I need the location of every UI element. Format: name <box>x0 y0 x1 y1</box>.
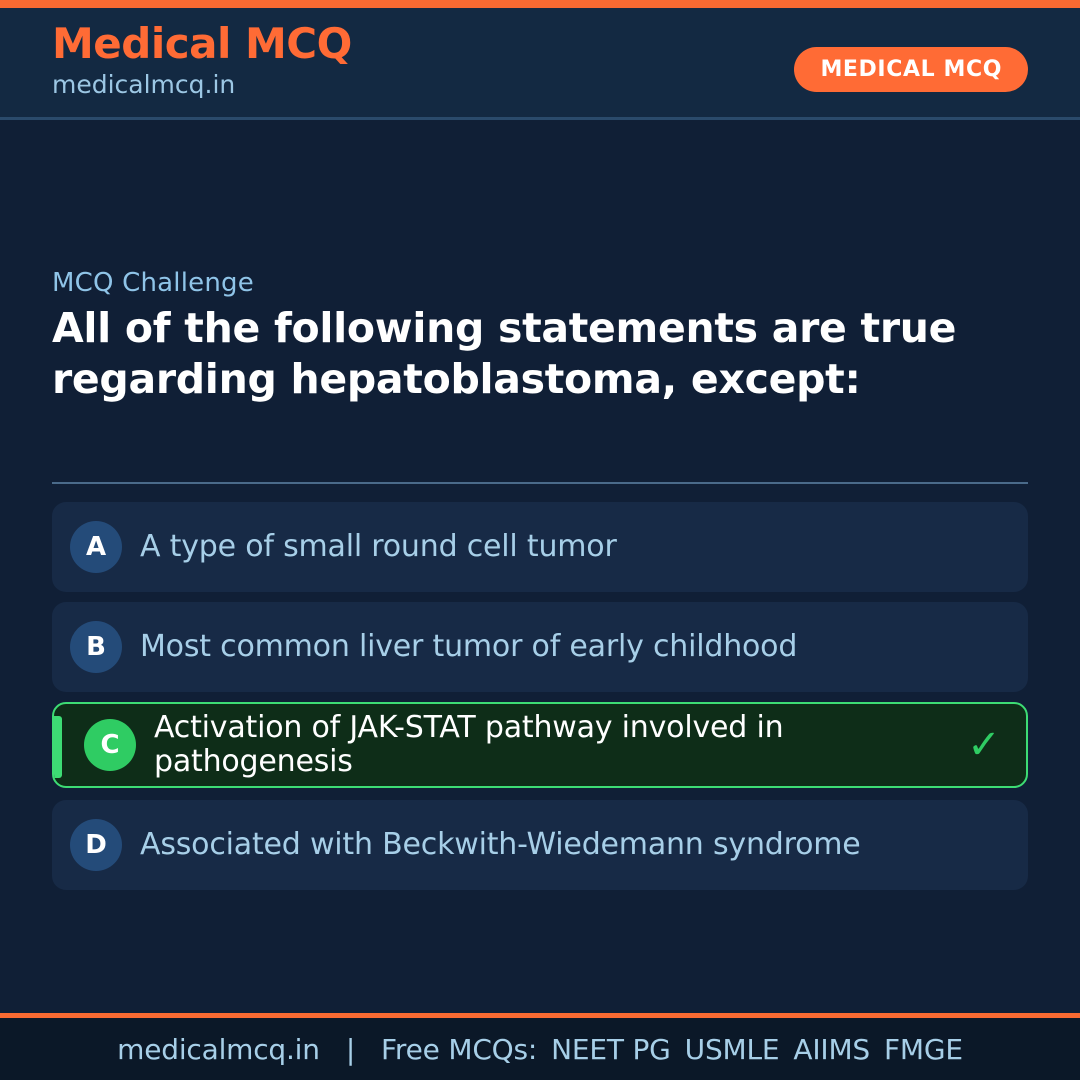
brand-subtitle: medicalmcq.in <box>52 68 352 102</box>
footer-exam-neet-pg[interactable]: NEET PG <box>551 1033 671 1066</box>
page-header: Medical MCQ medicalmcq.in MEDICAL MCQ <box>0 8 1080 120</box>
correct-accent-bar <box>54 716 62 778</box>
option-d-text: Associated with Beckwith-Wiedemann syndr… <box>140 828 1006 863</box>
header-badge: MEDICAL MCQ <box>794 47 1028 92</box>
option-b-letter: B <box>70 621 122 673</box>
main-content: MCQ Challenge All of the following state… <box>0 123 1080 1013</box>
option-d-letter: D <box>70 819 122 871</box>
option-a[interactable]: A A type of small round cell tumor <box>52 502 1028 592</box>
footer-exam-fmge[interactable]: FMGE <box>884 1033 963 1066</box>
eyebrow-label: MCQ Challenge <box>52 268 254 298</box>
question-divider <box>52 482 1028 484</box>
footer-exam-usmle[interactable]: USMLE <box>685 1033 780 1066</box>
footer-separator: | <box>346 1033 355 1066</box>
option-c-letter: C <box>84 719 136 771</box>
check-icon: ✓ <box>964 725 1004 765</box>
option-b[interactable]: B Most common liver tumor of early child… <box>52 602 1028 692</box>
brand-title: Medical MCQ <box>52 22 352 66</box>
brand-block: Medical MCQ medicalmcq.in <box>52 22 352 102</box>
option-c[interactable]: C Activation of JAK-STAT pathway involve… <box>52 702 1028 788</box>
option-c-text: Activation of JAK-STAT pathway involved … <box>154 711 964 778</box>
option-b-text: Most common liver tumor of early childho… <box>140 630 1006 665</box>
option-a-text: A type of small round cell tumor <box>140 530 1006 565</box>
options-list: A A type of small round cell tumor B Mos… <box>52 502 1028 900</box>
footer-label: Free MCQs: <box>381 1033 537 1066</box>
option-d[interactable]: D Associated with Beckwith-Wiedemann syn… <box>52 800 1028 890</box>
top-accent-strip <box>0 0 1080 8</box>
page-footer: medicalmcq.in | Free MCQs: NEET PG USMLE… <box>0 1018 1080 1080</box>
question-text: All of the following statements are true… <box>52 303 972 405</box>
footer-site[interactable]: medicalmcq.in <box>117 1033 320 1066</box>
footer-exam-aiims[interactable]: AIIMS <box>793 1033 870 1066</box>
footer-row: medicalmcq.in | Free MCQs: NEET PG USMLE… <box>117 1033 963 1066</box>
option-a-letter: A <box>70 521 122 573</box>
